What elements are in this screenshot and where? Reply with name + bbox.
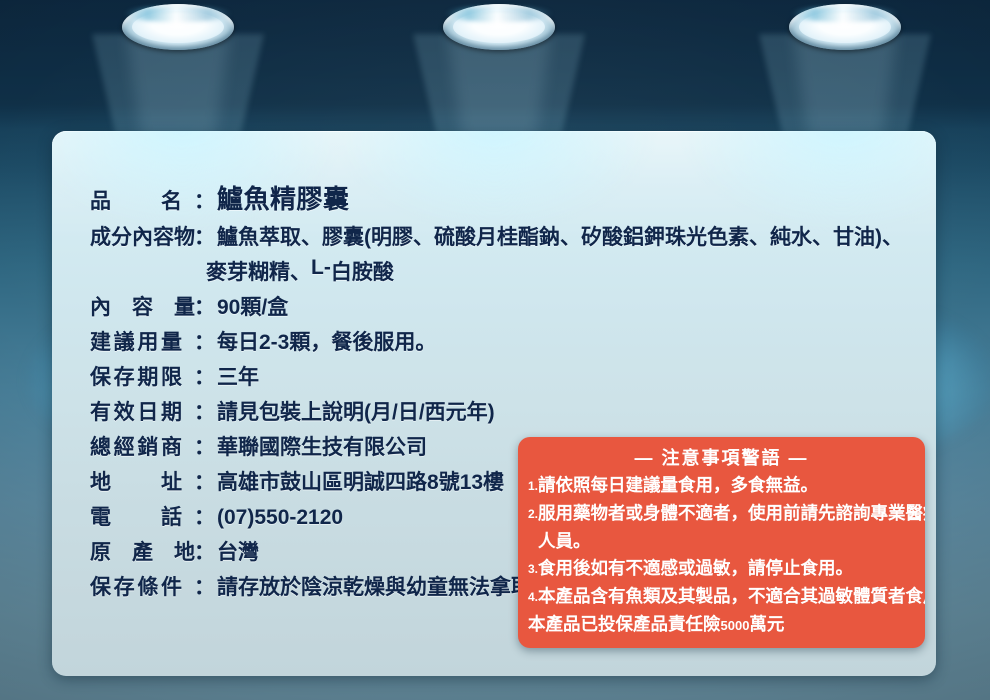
spec-label-net-content: 內 容 量 <box>90 291 194 321</box>
spec-label-origin: 原 產 地 <box>90 536 194 566</box>
spec-label-product-name: 品 名 <box>90 185 194 215</box>
spec-label-distributor: 總經銷商 <box>90 431 194 461</box>
spec-colon: ： <box>194 536 215 566</box>
product-label-card: 品 名：鱸魚精膠囊 成分內容物：鱸魚萃取、膠囊(明膠、硫酸月桂酯鈉、矽酸鋁鉀珠光… <box>52 131 936 676</box>
warning-item-text: 服用藥物者或身體不適者，使用前請先諮詢專業醫療 <box>538 503 925 523</box>
spec-value-origin: 台灣 <box>217 536 259 566</box>
warning-item-text: 食用後如有不適感或過敏，請停止食用。 <box>538 558 853 578</box>
spec-value-dosage-pre: 每日 <box>217 326 259 356</box>
spec-colon: ： <box>194 291 215 321</box>
spec-value-expiry: 請見包裝上說明(月/日/西元年) <box>217 396 495 426</box>
warning-panel: — 注意事項警語 — 1.請依照每日建議量食用，多食無益。 2.服用藥物者或身體… <box>518 437 925 648</box>
warning-insurance-amount: 5000 <box>721 618 750 633</box>
warning-insurance-pre: 本產品已投保產品責任險 <box>528 614 721 634</box>
warning-item-number: 2. <box>528 507 538 521</box>
spec-label-expiry: 有效日期 <box>90 396 194 426</box>
warning-item-continuation: 人員。 <box>528 528 915 555</box>
spec-value-product-name: 鱸魚精膠囊 <box>217 179 350 216</box>
spec-value-dosage-post: 顆，餐後服用。 <box>289 326 436 356</box>
warning-item: 3.食用後如有不適感或過敏，請停止食用。 <box>528 555 915 583</box>
warning-item-text: 請依照每日建議量食用，多食無益。 <box>538 475 818 495</box>
spec-value-address-mid: 號 <box>439 466 460 496</box>
spec-label-dosage: 建議用量 <box>90 326 194 356</box>
warning-insurance-post: 萬元 <box>749 614 784 634</box>
spec-value-net-content-number: 90 <box>217 296 240 320</box>
warning-item-number: 4. <box>528 590 538 604</box>
spec-label-storage: 保存條件 <box>90 571 194 601</box>
spec-row-product-name: 品 名：鱸魚精膠囊 <box>90 179 920 221</box>
spec-value-ingredients-line2-post: 白胺酸 <box>331 256 394 291</box>
label-artboard: 品 名：鱸魚精膠囊 成分內容物：鱸魚萃取、膠囊(明膠、硫酸月桂酯鈉、矽酸鋁鉀珠光… <box>0 0 990 700</box>
spec-value-address-floor: 13 <box>460 471 483 495</box>
spec-value-shelf-life: 三年 <box>217 361 259 391</box>
spec-colon: ： <box>194 501 215 531</box>
spec-value-ingredients-line2-prefix: L- <box>311 256 331 291</box>
spec-value-address-post: 樓 <box>483 466 504 496</box>
spec-value-net-content-unit: 顆/盒 <box>240 291 288 321</box>
warning-insurance-footer: 本產品已投保產品責任險5000萬元 <box>528 611 915 639</box>
warning-item: 1.請依照每日建議量食用，多食無益。 <box>528 472 915 500</box>
warning-item-number: 1. <box>528 479 538 493</box>
spec-value-dosage-number: 2-3 <box>259 331 289 355</box>
spec-row-net-content: 內 容 量：90顆/盒 <box>90 291 920 326</box>
spec-colon: ： <box>194 431 215 461</box>
spec-value-address-number: 8 <box>427 471 439 495</box>
spec-row-dosage: 建議用量：每日2-3顆，餐後服用。 <box>90 326 920 361</box>
spec-row-ingredients-line2: 麥芽糊精、L-白胺酸 <box>90 256 920 291</box>
warning-panel-title: — 注意事項警語 — <box>528 444 915 470</box>
spec-label-phone: 電 話 <box>90 501 194 531</box>
warning-item-text: 本產品含有魚類及其製品，不適合其過敏體質者食用。 <box>538 586 925 606</box>
spec-colon: ： <box>194 396 215 426</box>
spec-colon: ： <box>194 571 215 601</box>
spec-colon: ： <box>194 221 215 251</box>
warning-item: 2.服用藥物者或身體不適者，使用前請先諮詢專業醫療 <box>528 500 915 528</box>
spec-value-distributor: 華聯國際生技有限公司 <box>217 431 427 461</box>
spec-value-ingredients-line2-pre: 麥芽糊精、 <box>206 256 311 291</box>
spec-row-ingredients: 成分內容物：鱸魚萃取、膠囊(明膠、硫酸月桂酯鈉、矽酸鋁鉀珠光色素、純水、甘油)、 <box>90 221 920 256</box>
spec-value-address-pre: 高雄市鼓山區明誠四路 <box>217 466 427 496</box>
spec-row-expiry: 有效日期：請見包裝上說明(月/日/西元年) <box>90 396 920 431</box>
card-content: 品 名：鱸魚精膠囊 成分內容物：鱸魚萃取、膠囊(明膠、硫酸月桂酯鈉、矽酸鋁鉀珠光… <box>52 131 936 676</box>
spec-colon: ： <box>194 466 215 496</box>
spec-value-phone: (07)550-2120 <box>217 506 343 530</box>
spec-row-shelf-life: 保存期限：三年 <box>90 361 920 396</box>
warning-item-number: 3. <box>528 562 538 576</box>
spec-label-ingredients: 成分內容物 <box>90 221 194 251</box>
spec-colon: ： <box>194 185 215 215</box>
warning-item: 4.本產品含有魚類及其製品，不適合其過敏體質者食用。 <box>528 583 915 611</box>
spec-value-ingredients: 鱸魚萃取、膠囊(明膠、硫酸月桂酯鈉、矽酸鋁鉀珠光色素、純水、甘油)、 <box>217 221 903 251</box>
spec-label-address: 地 址 <box>90 466 194 496</box>
spec-colon: ： <box>194 361 215 391</box>
spec-label-shelf-life: 保存期限 <box>90 361 194 391</box>
spec-colon: ： <box>194 326 215 356</box>
